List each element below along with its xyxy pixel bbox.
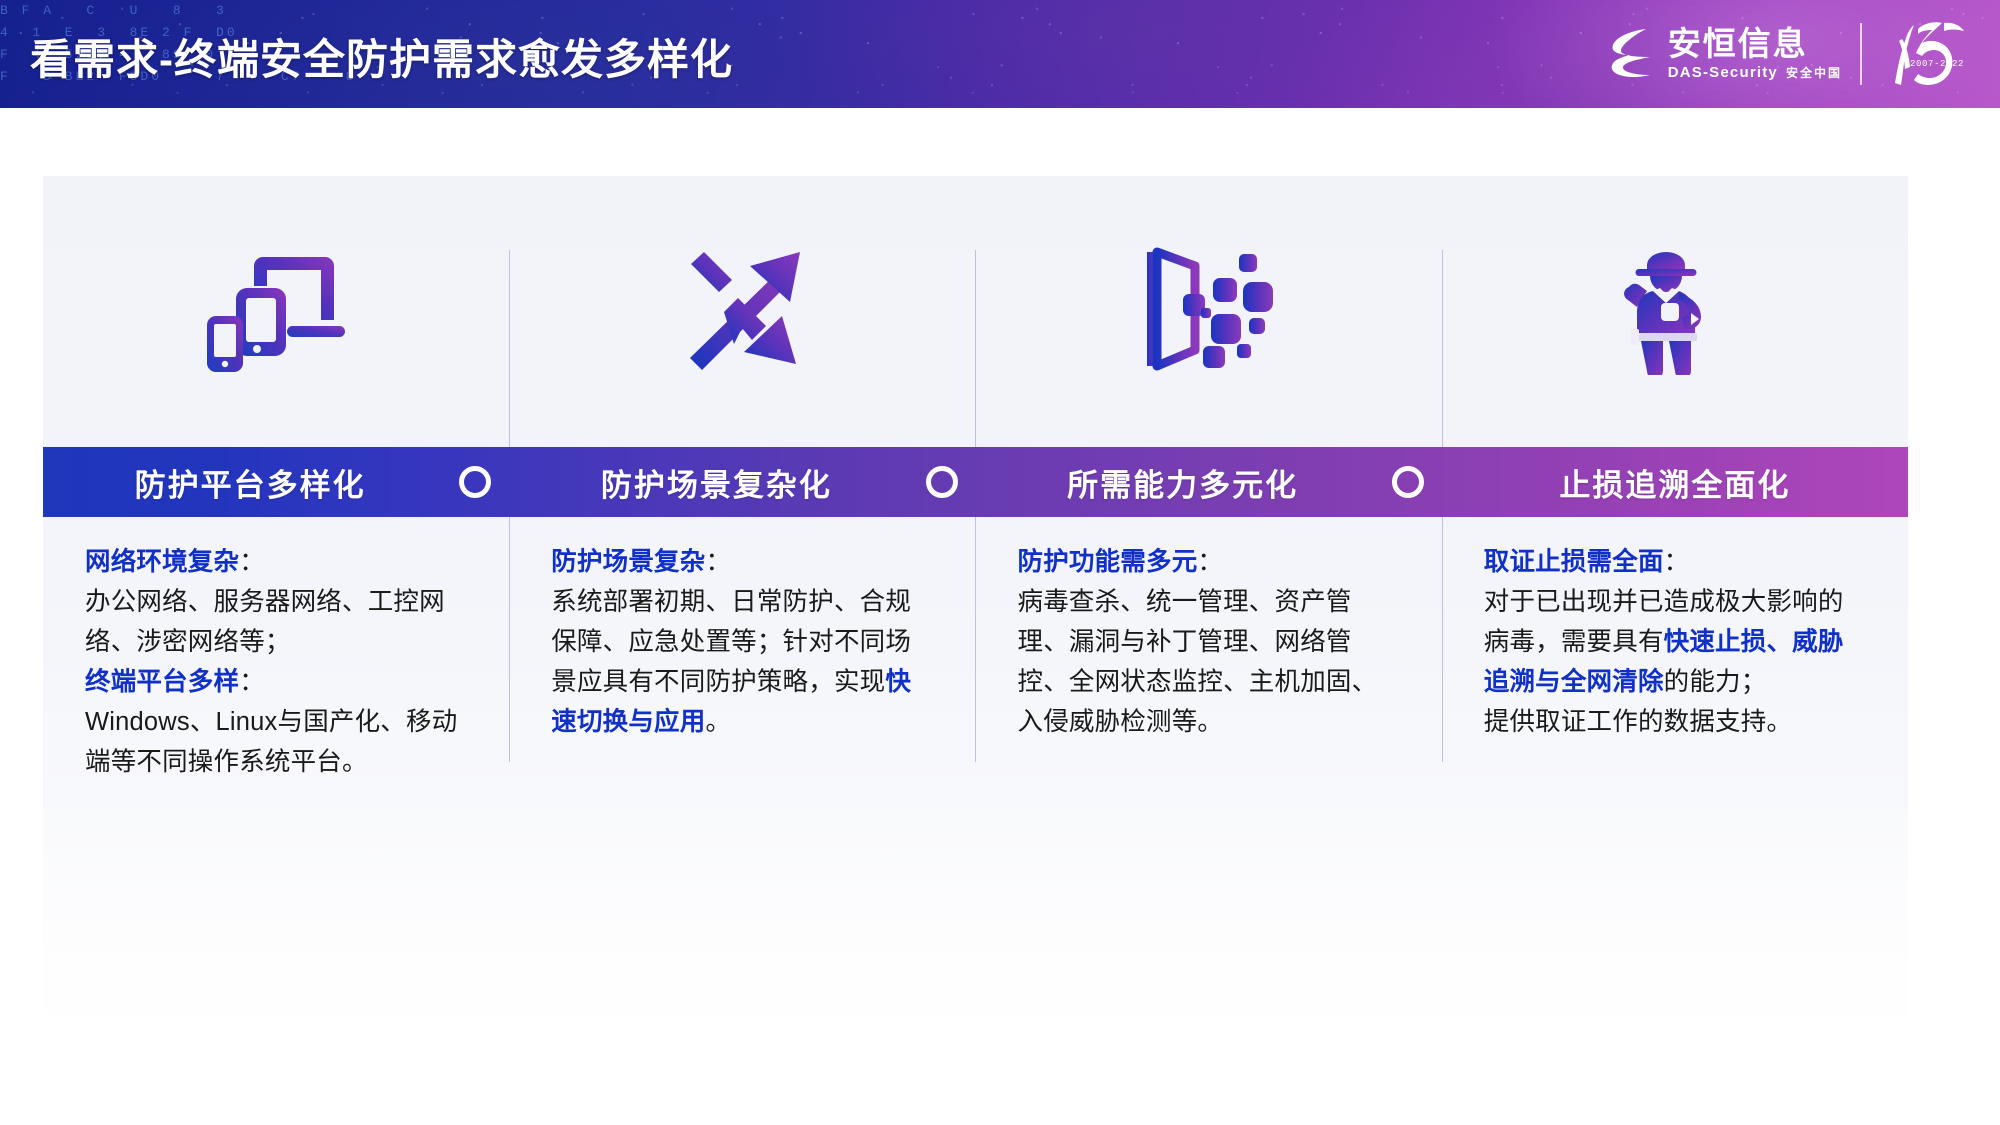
body-column-3: 防护功能需多元：病毒查杀、统一管理、资产管理、漏洞与补丁管理、网络管控、全网状态… [976, 176, 1442, 1036]
lead-label-1b: 终端平台多样 [85, 668, 239, 696]
body-paragraph-2a: 防护场景复杂：系统部署初期、日常防护、合规保障、应急处置等；针对不同场景应具有不… [551, 542, 933, 742]
das-security-swoosh-logo-icon [1606, 25, 1658, 83]
body-pre-2a: 系统部署初期、日常防护、合规保障、应急处置等；针对不同场景应具有不同防护策略，实… [551, 588, 911, 696]
body-paragraph-1a: 网络环境复杂：办公网络、服务器网络、工控网络、涉密网络等； [85, 542, 467, 662]
page-title: 看需求-终端安全防护需求愈发多样化 [30, 26, 733, 87]
body-column-4: 取证止损需全面：对于已出现并已造成极大影响的病毒，需要具有快速止损、威胁追溯与全… [1442, 176, 1908, 1036]
body-pre-4b: 提供取证工作的数据支持。 [1484, 708, 1792, 736]
body-zone-3: 防护功能需多元：病毒查杀、统一管理、资产管理、漏洞与补丁管理、网络管控、全网状态… [976, 542, 1442, 742]
lead-label-4a: 取证止损需全面 [1484, 548, 1664, 576]
body-pre-3a: 病毒查杀、统一管理、资产管理、漏洞与补丁管理、网络管控、全网状态监控、主机加固、… [1018, 588, 1378, 736]
anniversary-brush-15-icon [1880, 76, 1972, 93]
body-paragraph-1b: 终端平台多样：Windows、Linux与国产化、移动端等不同操作系统平台。 [85, 662, 467, 782]
logo-brand-sub: 安全中国 [1786, 64, 1842, 81]
colon-2a: ： [705, 548, 731, 576]
slide-header: B F A C U 8 3 4 1 E 3 8E 2 F D0 F 4 5926… [0, 0, 2000, 108]
content-card: 防护平台多样化 防护场景复杂化 所需能力多元化 止损追溯全面化 网络环境复杂：办… [43, 176, 1908, 1036]
anniversary-badge: 2007-2022 [1880, 19, 1972, 89]
colon-3a: ： [1197, 548, 1223, 576]
body-column-1: 网络环境复杂：办公网络、服务器网络、工控网络、涉密网络等； 终端平台多样：Win… [43, 176, 509, 1036]
body-zone-1: 网络环境复杂：办公网络、服务器网络、工控网络、涉密网络等； 终端平台多样：Win… [43, 542, 509, 782]
body-paragraph-4b: 提供取证工作的数据支持。 [1484, 702, 1866, 742]
body-pre-1a: 办公网络、服务器网络、工控网络、涉密网络等； [85, 588, 445, 656]
logo-brand-cn: 安恒信息 [1668, 27, 1842, 62]
logo-divider [1860, 23, 1862, 85]
body-paragraph-4a: 取证止损需全面：对于已出现并已造成极大影响的病毒，需要具有快速止损、威胁追溯与全… [1484, 542, 1866, 702]
body-zone-2: 防护场景复杂：系统部署初期、日常防护、合规保障、应急处置等；针对不同场景应具有不… [509, 542, 975, 742]
colon-1a: ： [239, 548, 265, 576]
lead-label-1a: 网络环境复杂 [85, 548, 239, 576]
lead-label-2a: 防护场景复杂 [551, 548, 705, 576]
body-row: 网络环境复杂：办公网络、服务器网络、工控网络、涉密网络等； 终端平台多样：Win… [43, 176, 1908, 1036]
body-paragraph-3a: 防护功能需多元：病毒查杀、统一管理、资产管理、漏洞与补丁管理、网络管控、全网状态… [1018, 542, 1400, 742]
body-zone-4: 取证止损需全面：对于已出现并已造成极大影响的病毒，需要具有快速止损、威胁追溯与全… [1442, 542, 1908, 742]
body-column-2: 防护场景复杂：系统部署初期、日常防护、合规保障、应急处置等；针对不同场景应具有不… [509, 176, 975, 1036]
logo-en-row: DAS-Security 安全中国 [1668, 64, 1842, 81]
logo-text-column: 安恒信息 DAS-Security 安全中国 [1668, 27, 1842, 81]
lead-label-3a: 防护功能需多元 [1018, 548, 1198, 576]
body-pre-1b: Windows、Linux与国产化、移动端等不同操作系统平台。 [85, 708, 457, 776]
logo-brand-group: 安恒信息 DAS-Security 安全中国 [1606, 25, 1842, 83]
logo-brand-en: DAS-Security [1668, 64, 1778, 81]
colon-4a: ： [1664, 548, 1690, 576]
body-post-2a: 。 [705, 708, 731, 736]
body-post-4a: 的能力； [1664, 668, 1767, 696]
brand-logo: 安恒信息 DAS-Security 安全中国 2007-2022 [1606, 16, 1972, 92]
colon-1b: ： [239, 668, 265, 696]
anniversary-years-label: 2007-2022 [1910, 59, 1964, 69]
